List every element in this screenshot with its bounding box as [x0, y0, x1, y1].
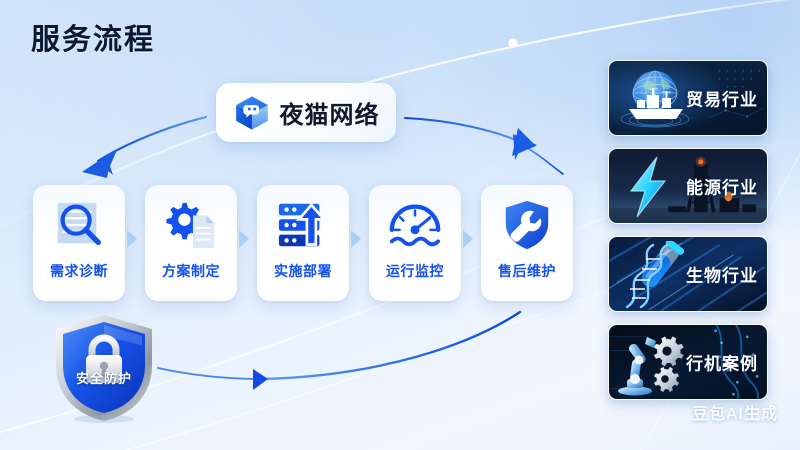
page-title: 服务流程 — [31, 16, 155, 58]
test-tube-dna-icon — [613, 241, 697, 309]
chevron-right-icon — [237, 229, 250, 249]
cube-logo-icon — [233, 94, 271, 132]
industry-card-label: 能源行业 — [686, 174, 758, 199]
lightning-oil-rig-icon — [613, 153, 697, 221]
robot-arm-gears-icon — [613, 329, 697, 397]
process-step-label: 实施部署 — [274, 261, 332, 281]
industry-card-machinery[interactable]: 行机案例 — [608, 324, 768, 400]
magnifier-document-icon — [50, 198, 108, 252]
process-step-label: 运行监控 — [386, 261, 444, 281]
gear-small — [654, 367, 679, 392]
gauge-waves-icon — [386, 198, 444, 252]
shield-badge-label: 安全防护 — [47, 368, 161, 387]
chevron-right-icon — [125, 229, 138, 249]
slide-canvas: 服务流程 夜猫网络 — [0, 0, 800, 450]
shield-wrench-icon — [498, 198, 556, 252]
industry-card-label: 贸易行业 — [686, 86, 758, 111]
process-step-card[interactable]: 售后维护 — [481, 185, 573, 301]
gear-large — [654, 336, 684, 366]
arrow-to-first-step — [82, 117, 206, 178]
brand-badge: 夜猫网络 — [216, 83, 396, 142]
brand-name: 夜猫网络 — [280, 95, 380, 130]
industry-card-trade[interactable]: 贸易行业 — [608, 60, 768, 136]
process-step-label: 需求诊断 — [50, 261, 108, 281]
chevron-right-icon — [461, 229, 474, 249]
process-step-card[interactable]: 方案制定 — [145, 185, 237, 301]
arrow-to-brand — [405, 118, 563, 174]
globe-cargo-ship-icon — [613, 65, 697, 133]
industry-card-energy[interactable]: 能源行业 — [608, 148, 768, 224]
process-step-card[interactable]: 需求诊断 — [33, 185, 125, 301]
arrow-loop-back — [158, 312, 520, 390]
process-step-label: 方案制定 — [162, 261, 220, 281]
industry-card-label: 生物行业 — [686, 262, 758, 287]
gear-document-icon — [162, 198, 220, 252]
industry-card-biology[interactable]: 生物行业 — [608, 236, 768, 312]
industry-card-label: 行机案例 — [686, 350, 758, 375]
process-step-card[interactable]: 实施部署 — [257, 185, 349, 301]
process-step-label: 售后维护 — [498, 261, 556, 281]
process-step-card[interactable]: 运行监控 — [369, 185, 461, 301]
server-uparrow-icon — [274, 198, 332, 252]
security-shield-badge: 安全防护 — [47, 312, 161, 424]
ai-watermark: 豆包AI生成 — [692, 400, 778, 424]
chevron-right-icon — [349, 229, 362, 249]
